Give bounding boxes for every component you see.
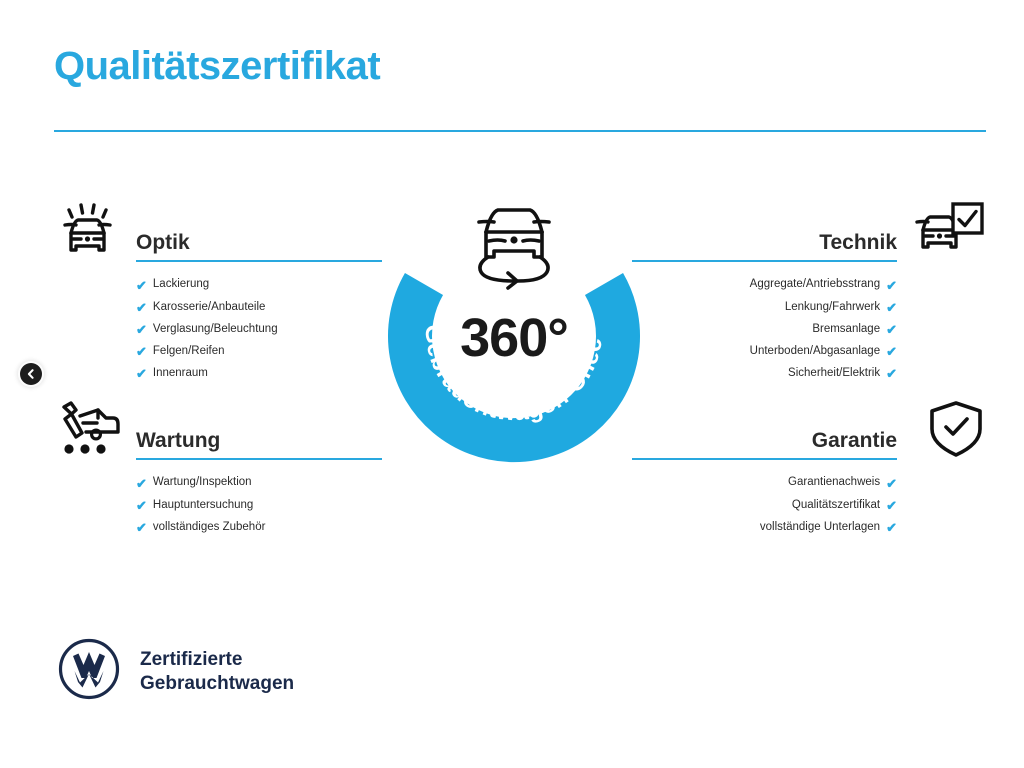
list-item: ✔ Felgen/Reifen (136, 341, 382, 363)
car-shine-icon (52, 200, 124, 267)
list-item: ✔ Karosserie/Anbauteile (136, 296, 382, 318)
section-title-wrap: Wartung (136, 430, 382, 460)
check-icon: ✔ (136, 367, 147, 380)
check-icon: ✔ (136, 477, 147, 490)
list-item: ✔ Hauptuntersuchung (136, 494, 382, 516)
section-underline (632, 458, 897, 460)
section-garantie: Garantie Garantienachweis ✔ Qualitätszer… (632, 398, 987, 539)
section-header: Garantie (632, 398, 987, 460)
check-icon: ✔ (886, 499, 897, 512)
section-underline (136, 458, 382, 460)
list-item-label: Sicherheit/Elektrik (788, 368, 880, 380)
list-item-label: Felgen/Reifen (153, 346, 225, 358)
check-icon: ✔ (886, 367, 897, 380)
list-item-label: Hauptuntersuchung (153, 500, 253, 512)
section-header: Optik (52, 200, 382, 262)
check-icon: ✔ (886, 477, 897, 490)
badge-360-check: Gebrauchtwagen-Check 360° (378, 196, 650, 468)
check-icon: ✔ (136, 323, 147, 336)
section-title-wrap: Optik (136, 232, 382, 262)
wrench-car-icon (52, 398, 126, 465)
section-underline (632, 260, 897, 262)
check-icon: ✔ (886, 345, 897, 358)
list-item: ✔ Innenraum (136, 363, 382, 385)
car-checkbox-icon (909, 200, 987, 267)
checklist-wartung: ✔ Wartung/Inspektion ✔ Hauptuntersuchung… (136, 472, 382, 539)
check-icon: ✔ (136, 345, 147, 358)
check-icon: ✔ (136, 301, 147, 314)
check-icon: ✔ (136, 279, 147, 292)
check-icon: ✔ (886, 521, 897, 534)
list-item-label: Qualitätszertifikat (792, 500, 880, 512)
list-item: Aggregate/Antriebsstrang ✔ (632, 274, 897, 296)
check-icon: ✔ (886, 323, 897, 336)
section-header: Technik (632, 200, 987, 262)
list-item-label: Karosserie/Anbauteile (153, 302, 266, 314)
check-icon: ✔ (136, 499, 147, 512)
list-item: ✔ vollständiges Zubehör (136, 516, 382, 538)
check-icon: ✔ (136, 521, 147, 534)
footer-line-1: Zertifizierte (140, 648, 294, 672)
section-header: Wartung (52, 398, 382, 460)
list-item-label: vollständiges Zubehör (153, 522, 266, 534)
section-title-wrap: Garantie (632, 430, 897, 460)
list-item-label: Aggregate/Antriebsstrang (750, 279, 880, 291)
list-item: Garantienachweis ✔ (632, 472, 897, 494)
list-item: Bremsanlage ✔ (632, 318, 897, 340)
section-title: Wartung (136, 430, 382, 458)
list-item-label: Wartung/Inspektion (153, 477, 252, 489)
list-item: Qualitätszertifikat ✔ (632, 494, 897, 516)
list-item: Lenkung/Fahrwerk ✔ (632, 296, 897, 318)
section-technik: Technik Aggregate/Antriebsstrang ✔ Lenku… (632, 200, 987, 385)
checklist-technik: Aggregate/Antriebsstrang ✔ Lenkung/Fahrw… (632, 274, 897, 385)
page-title: Qualitätszertifikat (54, 44, 380, 88)
list-item: ✔ Lackierung (136, 274, 382, 296)
list-item: Sicherheit/Elektrik ✔ (632, 363, 897, 385)
list-item-label: vollständige Unterlagen (760, 522, 880, 534)
check-icon: ✔ (886, 279, 897, 292)
section-underline (136, 260, 382, 262)
section-title-wrap: Technik (632, 232, 897, 262)
list-item-label: Garantienachweis (788, 477, 880, 489)
car-rotation-icon (455, 194, 573, 292)
shield-check-icon (925, 398, 987, 465)
title-divider (54, 130, 986, 132)
check-icon: ✔ (886, 301, 897, 314)
list-item-label: Lenkung/Fahrwerk (785, 302, 880, 314)
list-item-label: Innenraum (153, 368, 208, 380)
list-item-label: Unterboden/Abgasanlage (750, 346, 880, 358)
section-title: Garantie (632, 430, 897, 458)
list-item: ✔ Wartung/Inspektion (136, 472, 382, 494)
prev-slide-button[interactable] (20, 363, 42, 385)
list-item: ✔ Verglasung/Beleuchtung (136, 318, 382, 340)
section-title: Technik (632, 232, 897, 260)
list-item-label: Verglasung/Beleuchtung (153, 324, 278, 336)
list-item-label: Lackierung (153, 279, 209, 291)
footer-lockup: Zertifizierte Gebrauchtwagen (58, 638, 294, 705)
section-title: Optik (136, 232, 382, 260)
vw-logo (58, 638, 120, 705)
list-item-label: Bremsanlage (812, 324, 880, 336)
list-item: vollständige Unterlagen ✔ (632, 516, 897, 538)
footer-text: Zertifizierte Gebrauchtwagen (140, 648, 294, 696)
checklist-garantie: Garantienachweis ✔ Qualitätszertifikat ✔… (632, 472, 897, 539)
list-item: Unterboden/Abgasanlage ✔ (632, 341, 897, 363)
footer-line-2: Gebrauchtwagen (140, 672, 294, 696)
section-wartung: Wartung ✔ Wartung/Inspektion ✔ Hauptunte… (52, 398, 382, 539)
checklist-optik: ✔ Lackierung ✔ Karosserie/Anbauteile ✔ V… (136, 274, 382, 385)
chevron-left-icon (25, 368, 37, 380)
section-optik: Optik ✔ Lackierung ✔ Karosserie/Anbautei… (52, 200, 382, 385)
